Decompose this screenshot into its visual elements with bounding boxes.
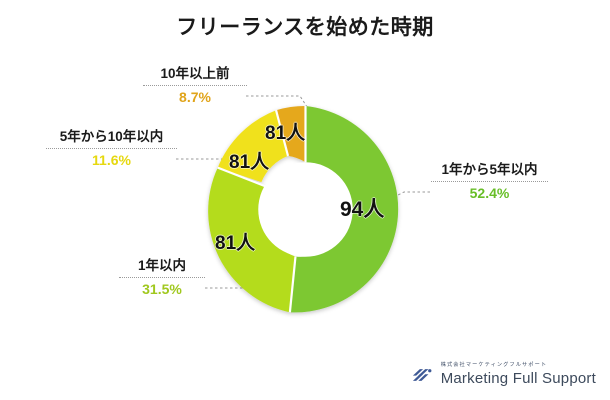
brand-logo: 株式会社マーケティングフルサポート Marketing Full Support (411, 363, 596, 386)
logo-company-en: Marketing Full Support (441, 371, 596, 386)
callout-5to10years: 5年から10年以内 11.6% (46, 129, 177, 170)
callout-percent-1to5years: 52.4% (431, 182, 548, 203)
slice-value-1to5years: 94人 (340, 193, 384, 223)
callout-label-5to10years: 5年から10年以内 (46, 129, 177, 148)
callout-label-10yearsplus: 10年以上前 (143, 66, 247, 85)
callout-label-within1year: 1年以内 (119, 258, 205, 277)
callout-10yearsplus: 10年以上前 8.7% (143, 66, 247, 107)
slice-value-within1year: 81人 (215, 228, 255, 255)
donut-chart: 94人 81人 81人 81人 (193, 97, 418, 322)
page-title: フリーランスを始めた時期 (0, 11, 610, 41)
chart-canvas: フリーランスを始めた時期 (0, 0, 610, 400)
callout-percent-within1year: 31.5% (119, 278, 205, 299)
callout-label-1to5years: 1年から5年以内 (431, 162, 548, 181)
callout-percent-10yearsplus: 8.7% (143, 86, 247, 107)
callout-within1year: 1年以内 31.5% (119, 258, 205, 299)
logo-text-group: 株式会社マーケティングフルサポート Marketing Full Support (441, 363, 596, 385)
donut-hole (258, 162, 353, 257)
slice-value-10yearsplus: 81人 (265, 118, 305, 145)
chevron-stack-logo-icon (411, 363, 434, 386)
callout-1to5years: 1年から5年以内 52.4% (431, 162, 548, 203)
slice-value-5to10years: 81人 (229, 147, 269, 174)
callout-percent-5to10years: 11.6% (46, 149, 177, 170)
